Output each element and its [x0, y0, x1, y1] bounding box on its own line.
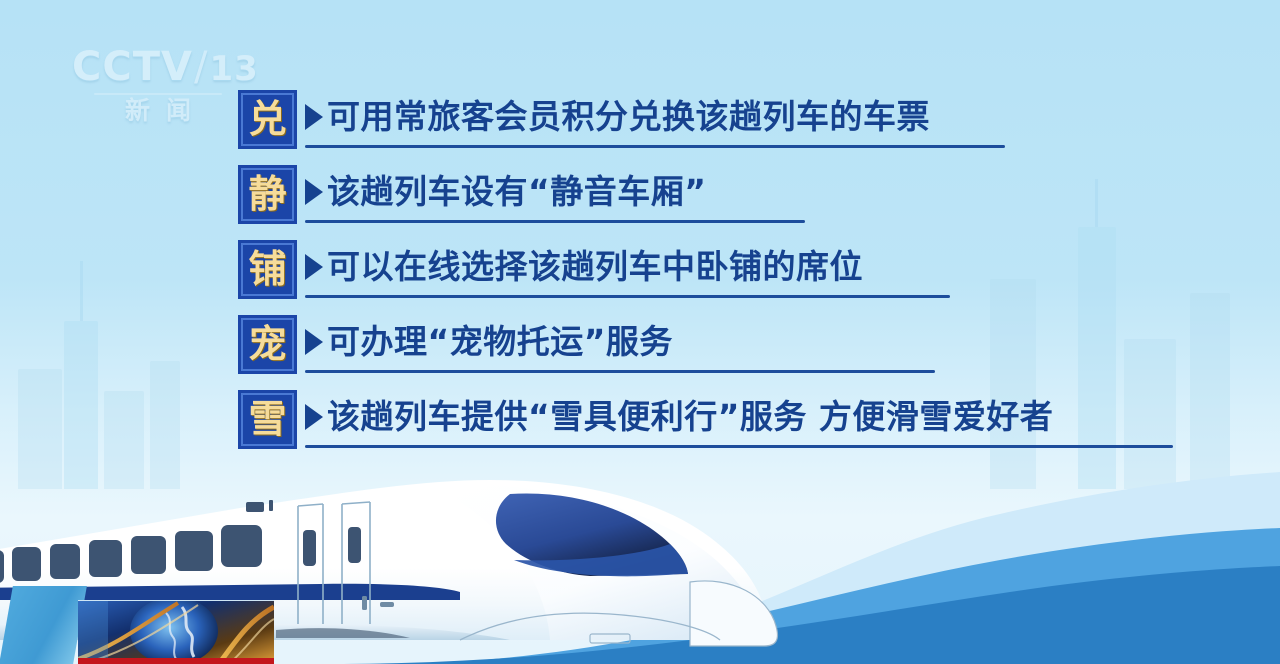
list-item-text: 该趟列车设有“静音车厢”: [327, 165, 706, 219]
news-graphic-stage: CCTV/13 新闻 兑 可用常旅客会员积分兑换该趟列车的车票 静: [0, 0, 1280, 664]
train-indicator-panel: [246, 502, 264, 512]
platform-block: [0, 586, 87, 664]
feature-list: 兑 可用常旅客会员积分兑换该趟列车的车票 静 该趟列车设有“静音车厢”: [238, 90, 1248, 465]
badge-character: 兑: [248, 100, 286, 138]
bullet-triangle-icon: [305, 329, 323, 355]
logo-channel-number: 13: [209, 49, 258, 89]
badge-chong: 宠: [238, 315, 297, 374]
list-item-underline: [305, 220, 805, 223]
badge-character: 铺: [248, 250, 286, 288]
badge-dui: 兑: [238, 90, 297, 149]
bullet-triangle-icon: [305, 254, 323, 280]
train-door-window: [303, 530, 316, 566]
train-marking: [380, 602, 394, 607]
list-item-underline: [305, 145, 1005, 148]
list-item-underline: [305, 370, 935, 373]
train-marking: [362, 596, 367, 610]
news-broadcast-inset[interactable]: [78, 600, 274, 664]
train-door-window: [348, 527, 361, 563]
bullet-triangle-icon: [305, 104, 323, 130]
train-front-dome: [690, 581, 778, 646]
list-item-text: 可用常旅客会员积分兑换该趟列车的车票: [327, 90, 930, 144]
broadcast-globe-graphic: [78, 601, 274, 664]
badge-character: 静: [248, 175, 286, 213]
logo-cctv-text: CCTV: [72, 44, 193, 90]
badge-jing: 静: [238, 165, 297, 224]
list-item: 铺 可以在线选择该趟列车中卧铺的席位: [238, 240, 1248, 315]
logo-subtitle: 新闻: [72, 97, 244, 125]
logo-slash: /: [193, 44, 209, 90]
list-item: 静 该趟列车设有“静音车厢”: [238, 165, 1248, 240]
list-item-text: 可办理“宠物托运”服务: [327, 315, 673, 369]
list-item-text: 可以在线选择该趟列车中卧铺的席位: [327, 240, 863, 294]
list-item-underline: [305, 295, 950, 298]
list-item: 宠 可办理“宠物托运”服务: [238, 315, 1248, 390]
cctv13-logo-watermark: CCTV/13 新闻: [72, 44, 244, 136]
badge-character: 宠: [248, 325, 286, 363]
badge-pu: 铺: [238, 240, 297, 299]
list-item: 兑 可用常旅客会员积分兑换该趟列车的车票: [238, 90, 1248, 165]
logo-divider-rule: [94, 93, 222, 95]
train-indicator-dot: [269, 500, 273, 511]
inset-red-bar: [78, 658, 274, 664]
bullet-triangle-icon: [305, 179, 323, 205]
bullet-triangle-icon: [305, 404, 323, 430]
badge-character: 雪: [248, 400, 286, 438]
